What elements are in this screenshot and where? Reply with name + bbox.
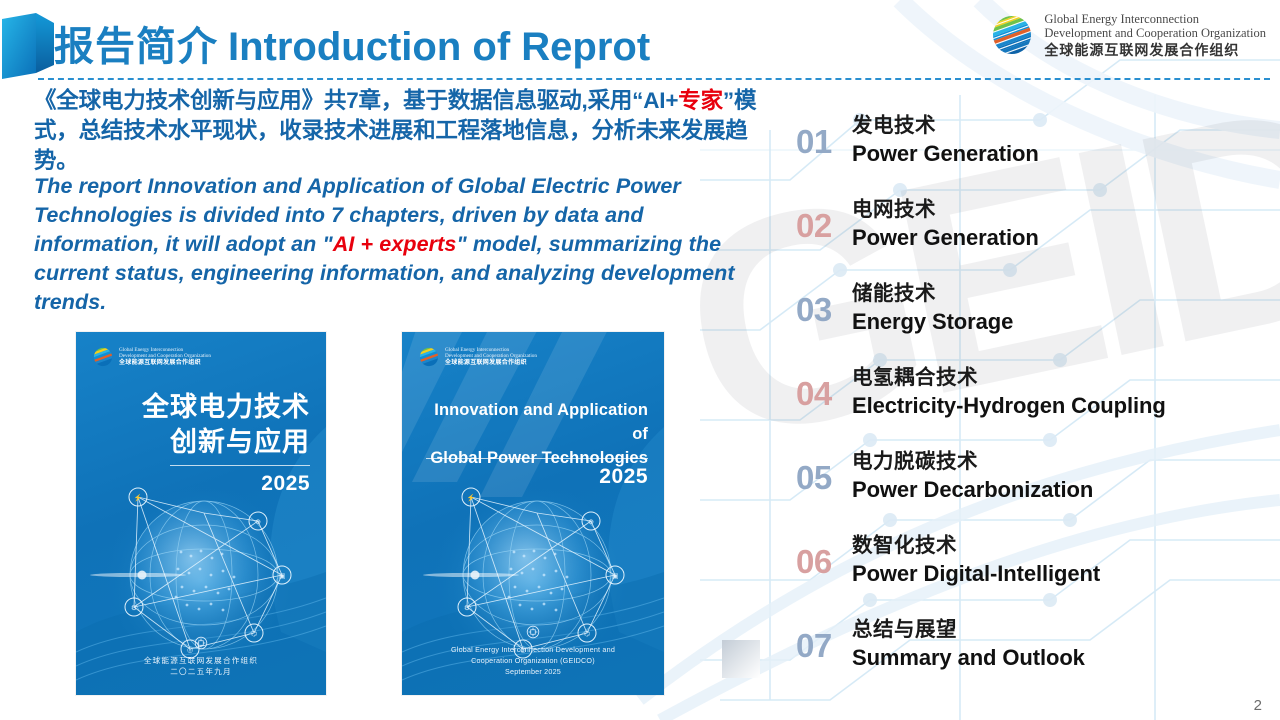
header-divider (38, 78, 1270, 80)
chapter-title-cn-02: 电网技术 (852, 196, 1039, 223)
book-cn-title-line-1: 全球电力技术 (142, 390, 310, 425)
book-en-footer-line-1: Global Energy Interconnection Developmen… (402, 644, 664, 655)
svg-text:⚙: ⚙ (131, 604, 137, 612)
decorative-rectangle (722, 640, 760, 678)
body-cn-quote-open: “AI+ (632, 88, 678, 113)
chapter-number-07: 07 (796, 614, 852, 666)
organization-logo: Global Energy Interconnection Developmen… (989, 12, 1266, 58)
svg-text:⊕: ⊕ (255, 519, 261, 526)
svg-text:▣: ▣ (279, 573, 286, 580)
globe-logo-icon (92, 346, 114, 368)
chapter-item-06[interactable]: 06 数智化技术 Power Digital-Intelligent (796, 530, 1280, 614)
page-title-cn: 报告简介 (54, 25, 218, 69)
chapter-item-02[interactable]: 02 电网技术 Power Generation (796, 194, 1280, 278)
chapter-number-03: 03 (796, 278, 852, 330)
book-cn-footer-emblem-icon (194, 636, 208, 650)
chapter-item-07[interactable]: 07 总结与展望 Summary and Outlook (796, 614, 1280, 698)
body-cn-pre: 《全球电力技术创新与应用》共7章，基于数据信息驱动,采用 (34, 88, 632, 113)
book-cn-title-line-2: 创新与应用 (142, 425, 310, 460)
book-en-logo-line-2: Development and Cooperation Organization (445, 353, 537, 359)
chapter-title-en-05: Power Decarbonization (852, 475, 1093, 504)
book-cn-footer: 全球能源互联网发展合作组织 二〇二五年九月 (76, 636, 326, 677)
chapter-list: 01 发电技术 Power Generation 02 电网技术 Power G… (796, 110, 1280, 698)
chapter-title-en-04: Electricity-Hydrogen Coupling (852, 391, 1166, 420)
book-cn-logo-line-3: 全球能源互联网发展合作组织 (119, 360, 211, 367)
book-en-year: 2025 (599, 465, 648, 489)
chapter-number-01: 01 (796, 110, 852, 162)
page-title: 报告简介Introduction of Reprot (54, 14, 650, 72)
book-cn-footer-line-2: 二〇二五年九月 (76, 666, 326, 677)
svg-text:⚡: ⚡ (134, 493, 143, 502)
logo-line-1: Global Energy Interconnection (1044, 12, 1266, 26)
chapter-title-cn-06: 数智化技术 (852, 532, 1100, 559)
book-en-logo-line-3: 全球能源互联网发展合作组织 (445, 360, 537, 367)
chapter-title-en-03: Energy Storage (852, 307, 1013, 336)
book-en-footer-line-3: September 2025 (402, 666, 664, 677)
book-cn-logo-line-2: Development and Cooperation Organization (119, 353, 211, 359)
book-cover-chinese[interactable]: Global Energy Interconnection Developmen… (76, 332, 326, 695)
body-paragraph-english: The report Innovation and Application of… (34, 172, 764, 317)
svg-text:⚡: ⚡ (467, 493, 476, 502)
book-cn-rule (170, 465, 310, 466)
book-en-rule (426, 458, 648, 459)
book-en-logo: Global Energy Interconnection Developmen… (418, 346, 537, 368)
book-cn-logo: Global Energy Interconnection Developmen… (92, 346, 211, 368)
chapter-title-cn-04: 电氢耦合技术 (852, 364, 1166, 391)
chapter-title-en-01: Power Generation (852, 139, 1039, 168)
chapter-title-cn-03: 储能技术 (852, 280, 1013, 307)
svg-text:⊕: ⊕ (588, 519, 594, 526)
slide-root: GEIDCO 报告简介Introduction of Reprot (0, 0, 1280, 720)
book-en-title: Innovation and Application of Global Pow… (428, 398, 648, 470)
body-cn-highlight: 专家 (678, 88, 723, 113)
chapter-title-cn-01: 发电技术 (852, 112, 1039, 139)
body-paragraph-chinese: 《全球电力技术创新与应用》共7章，基于数据信息驱动,采用“AI+专家”模式，总结… (34, 86, 774, 176)
cube-icon (2, 13, 56, 85)
chapter-item-05[interactable]: 05 电力脱碳技术 Power Decarbonization (796, 446, 1280, 530)
body-cn-quote-close: ” (723, 88, 734, 113)
globe-logo-icon (989, 12, 1035, 58)
book-cn-year: 2025 (261, 472, 310, 496)
book-en-footer: Global Energy Interconnection Developmen… (402, 625, 664, 677)
globe-logo-icon (418, 346, 440, 368)
svg-text:▣: ▣ (612, 573, 619, 580)
chapter-number-05: 05 (796, 446, 852, 498)
chapter-title-en-06: Power Digital-Intelligent (852, 559, 1100, 588)
book-en-footer-emblem-icon (526, 625, 540, 639)
page-title-en: Introduction of Reprot (228, 25, 650, 69)
logo-line-2: Development and Cooperation Organization (1044, 26, 1266, 40)
chapter-title-en-02: Power Generation (852, 223, 1039, 252)
book-cover-english[interactable]: Global Energy Interconnection Developmen… (402, 332, 664, 695)
chapter-title-en-07: Summary and Outlook (852, 643, 1085, 672)
chapter-item-04[interactable]: 04 电氢耦合技术 Electricity-Hydrogen Coupling (796, 362, 1280, 446)
body-en-highlight: AI + experts (333, 232, 457, 256)
book-cn-title: 全球电力技术 创新与应用 (142, 390, 310, 460)
chapter-number-06: 06 (796, 530, 852, 582)
chapter-number-04: 04 (796, 362, 852, 414)
book-cn-footer-line-1: 全球能源互联网发展合作组织 (76, 655, 326, 666)
book-en-title-line-1: Innovation and Application of (428, 398, 648, 446)
chapter-title-cn-07: 总结与展望 (852, 616, 1085, 643)
svg-text:⚙: ⚙ (464, 604, 470, 612)
chapter-item-03[interactable]: 03 储能技术 Energy Storage (796, 278, 1280, 362)
page-number: 2 (1254, 697, 1262, 714)
book-en-footer-line-2: Cooperation Organization (GEIDCO) (402, 655, 664, 666)
chapter-number-02: 02 (796, 194, 852, 246)
chapter-item-01[interactable]: 01 发电技术 Power Generation (796, 110, 1280, 194)
logo-line-3: 全球能源互联网发展合作组织 (1044, 42, 1266, 58)
chapter-title-cn-05: 电力脱碳技术 (852, 448, 1093, 475)
